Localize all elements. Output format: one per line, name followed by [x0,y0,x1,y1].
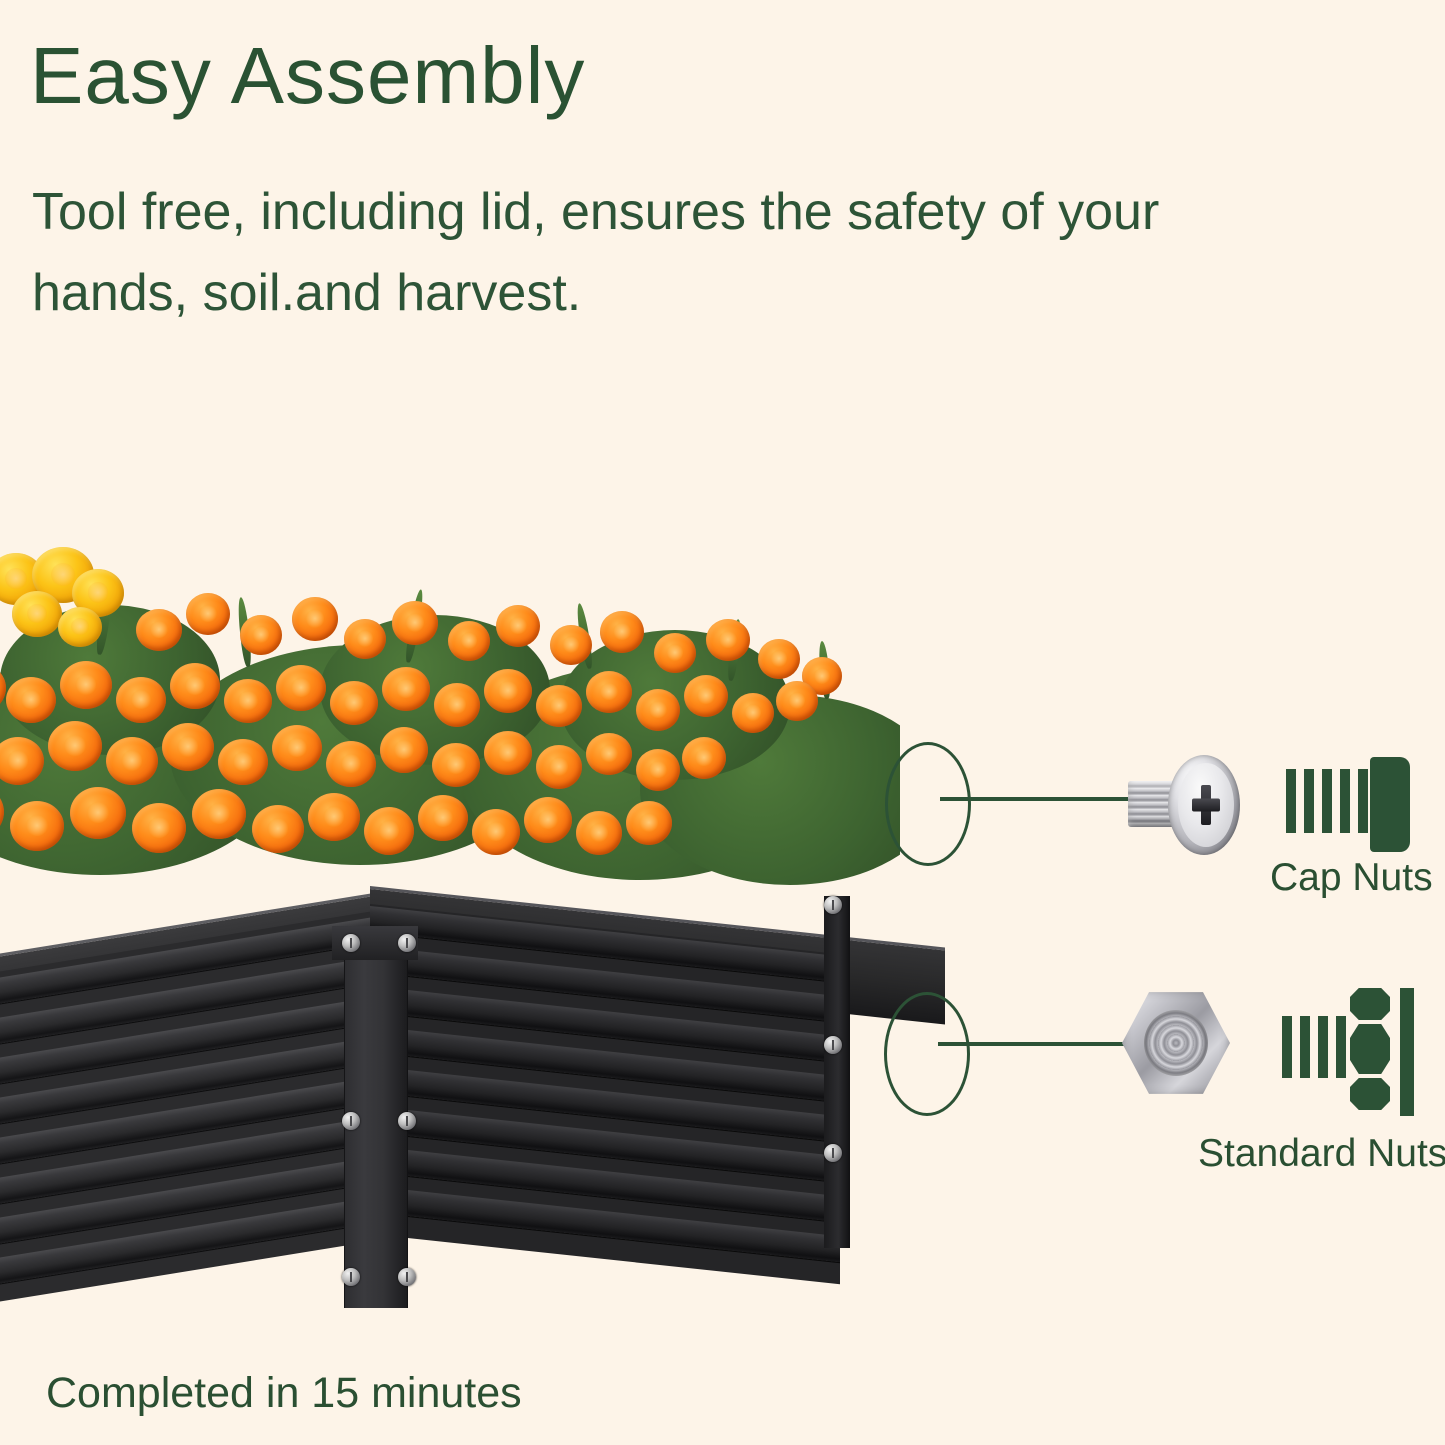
callout-leader-cap-nuts [940,797,1140,801]
cap-nuts-label: Cap Nuts [1270,856,1433,900]
completion-time-note: Completed in 15 minutes [46,1368,522,1420]
screw-front-mid-right [398,1112,416,1130]
bed-panel-left [0,910,380,1311]
screw-front-bottom-left [342,1268,360,1286]
callout-circle-cap-nuts [885,742,971,866]
bed-panel-right [370,904,840,1284]
infographic-canvas: Easy Assembly Tool free, including lid, … [0,0,1445,1445]
cap-nut-bolt-photo [1128,755,1240,855]
page-subtitle: Tool free, including lid, ensures the sa… [32,172,1322,333]
standard-nut-photo [1122,990,1230,1096]
screw-front-top-right [398,934,416,952]
callout-leader-standard-nuts [938,1042,1128,1046]
product-photo [0,545,950,1285]
screw-front-top-left [342,934,360,952]
screw-right-bottom [824,1144,842,1162]
callout-circle-standard-nuts [884,992,970,1116]
standard-nut-schematic-icon [1282,988,1432,1116]
page-title: Easy Assembly [30,36,585,116]
screw-right-top [824,896,842,914]
standard-nuts-label: Standard Nuts [1198,1132,1445,1176]
screw-front-mid-left [342,1112,360,1130]
raised-garden-bed [0,800,950,1290]
cap-nut-schematic-icon [1286,757,1426,852]
corner-post-right [824,896,850,1248]
screw-front-bottom-right [398,1268,416,1286]
screw-right-mid [824,1036,842,1054]
